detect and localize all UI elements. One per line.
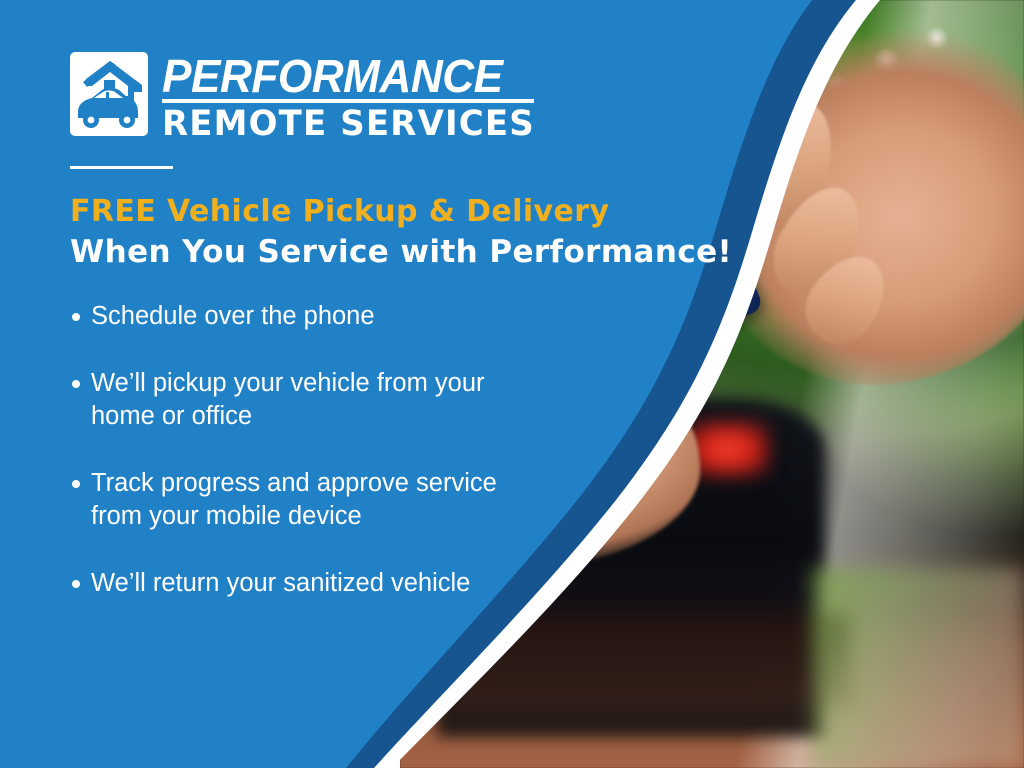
list-item: Schedule over the phone (70, 300, 540, 333)
headline-line-2: When You Service with Performance! (70, 232, 710, 272)
section-divider (70, 166, 173, 169)
brand-name-line-2: REMOTE SERVICES (162, 106, 535, 142)
content-column: PERFORMANCE REMOTE SERVICES FREE Vehicle… (0, 0, 560, 768)
benefits-list: Schedule over the phone We’ll pickup you… (70, 300, 540, 600)
list-item-text: Schedule over the phone (91, 302, 375, 330)
list-item: We’ll return your sanitized vehicle (70, 567, 540, 600)
list-item-text: Track progress and approve service from … (91, 469, 497, 530)
brand-name-line-1: PERFORMANCE (162, 54, 531, 98)
brand-wordmark: PERFORMANCE REMOTE SERVICES (162, 52, 546, 142)
list-item: Track progress and approve service from … (70, 467, 540, 533)
house-and-car-icon (70, 52, 148, 136)
bullet-dot-icon (72, 580, 80, 588)
list-item-text: We’ll pickup your vehicle from your home… (91, 369, 485, 430)
brand-logo[interactable]: PERFORMANCE REMOTE SERVICES (70, 52, 546, 142)
driveway-and-grass (812, 568, 1024, 768)
headline-line-1: FREE Vehicle Pickup & Delivery (70, 192, 710, 232)
bullet-dot-icon (72, 480, 80, 488)
headline-block: FREE Vehicle Pickup & Delivery When You … (70, 192, 710, 272)
bullet-dot-icon (72, 313, 80, 321)
promotional-banner: PERFORMANCE REMOTE SERVICES FREE Vehicle… (0, 0, 1024, 768)
list-item: We’ll pickup your vehicle from your home… (70, 367, 540, 433)
list-item-text: We’ll return your sanitized vehicle (91, 569, 470, 597)
bullet-dot-icon (72, 380, 80, 388)
